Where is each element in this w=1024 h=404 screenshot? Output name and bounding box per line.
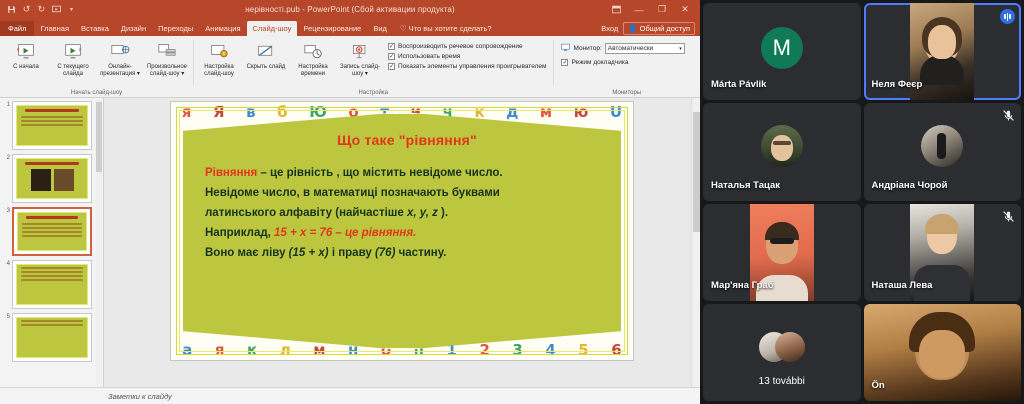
checkbox-play-narrations-label: Воспроизводить речевое сопровождение	[398, 43, 523, 50]
checkbox-presenter-view[interactable]: ✓ Режим докладчика	[561, 59, 628, 66]
screen-root: ↺ ↻ ▾ нерівності.pub - PowerPoint (Сбой …	[0, 0, 1024, 404]
button-record-slideshow[interactable]: Запись слайд- шоу ▾	[337, 38, 383, 78]
monitor-select-value: Автоматически	[608, 45, 653, 52]
video-conference-grid: M Márta Pávlik Неля Феєр Наталья Тацак	[700, 0, 1024, 404]
slide-vertical-scrollbar[interactable]	[691, 98, 700, 387]
more-participants-label: 13 további	[703, 376, 861, 387]
thumbnail-number: 1	[3, 101, 10, 150]
powerpoint-window: ↺ ↻ ▾ нерівності.pub - PowerPoint (Сбой …	[0, 0, 700, 404]
checkbox-play-narrations-box[interactable]: ✓	[388, 43, 395, 50]
participant-name: Наташа Лева	[872, 280, 933, 291]
participant-tile-marta-pavlik[interactable]: M Márta Pávlik	[703, 3, 861, 100]
tab-transitions[interactable]: Переходы	[152, 21, 199, 36]
checkbox-use-timings[interactable]: ✓ Использовать время	[388, 53, 546, 60]
checkbox-use-timings-label: Использовать время	[398, 53, 460, 60]
tab-home[interactable]: Главная	[34, 21, 75, 36]
lightbulb-icon: ♡	[400, 24, 407, 33]
thumbnail-preview[interactable]	[12, 154, 92, 203]
button-present-online-label: Онлайн- презентация ▾	[97, 64, 143, 78]
mic-muted-icon	[1002, 210, 1015, 223]
participant-tile-more[interactable]: 13 további	[703, 304, 861, 401]
checkbox-presenter-view-label: Режим докладчика	[571, 59, 628, 66]
monitor-label: Монитор:	[573, 45, 601, 52]
slide-selection-outline	[177, 108, 627, 354]
participant-name: Наталья Тацак	[711, 180, 780, 191]
button-hide-slide-label: Скрыть слайд	[243, 64, 289, 71]
thumbnail-item[interactable]: 2	[3, 154, 101, 203]
button-from-beginning[interactable]: С начала	[3, 38, 49, 71]
notes-placeholder: Заметки к слайду	[108, 392, 172, 401]
tab-view[interactable]: Вид	[367, 21, 393, 36]
participant-name: Ön	[872, 380, 885, 391]
ribbon-group-start-slideshow: С начала С текущего слайда Онлайн- презе…	[0, 36, 193, 98]
group-label-setup: Настройка	[193, 88, 553, 98]
custom-slideshow-icon	[155, 41, 179, 63]
slideshow-from-current-icon	[61, 41, 85, 63]
tell-me-label: Что вы хотите сделать?	[409, 24, 492, 33]
group-label-start-slideshow: Начать слайд-шоу	[0, 88, 193, 98]
checkbox-play-narrations[interactable]: ✓ Воспроизводить речевое сопровождение	[388, 43, 546, 50]
participant-tile-natasha-leva[interactable]: Наташа Лева	[864, 204, 1022, 301]
participant-name: Неля Феєр	[872, 79, 923, 90]
monitor-icon	[561, 43, 570, 54]
button-custom-slideshow-label: Произвольное слайд-шоу ▾	[144, 64, 190, 78]
ribbon-group-monitors: Монитор: Автоматически ▾ ✓ Режим докладч…	[553, 36, 700, 98]
button-present-online[interactable]: Онлайн- презентация ▾	[97, 38, 143, 78]
ribbon-content: С начала С текущего слайда Онлайн- презе…	[0, 36, 700, 98]
present-online-icon	[108, 41, 132, 63]
checkbox-use-timings-box[interactable]: ✓	[388, 53, 395, 60]
thumbnail-number: 5	[3, 313, 10, 362]
thumbnail-preview[interactable]	[12, 207, 92, 256]
button-setup-slideshow-label: Настройка слайд-шоу	[196, 64, 242, 78]
thumbnail-item[interactable]: 5	[3, 313, 101, 362]
button-rehearse-timings-label: Настройка времени	[290, 64, 336, 78]
tell-me-box[interactable]: ♡ Что вы хотите сделать?	[393, 21, 492, 36]
thumbnail-number: 3	[3, 207, 10, 256]
thumbnail-number: 2	[3, 154, 10, 203]
participant-tile-natalya-tsatsak[interactable]: Наталья Тацак	[703, 103, 861, 200]
button-rehearse-timings[interactable]: Настройка времени	[290, 38, 336, 78]
tab-insert[interactable]: Вставка	[75, 21, 115, 36]
participant-tile-nelya-feyer[interactable]: Неля Феєр	[864, 3, 1022, 100]
participant-tile-maryana-hrab[interactable]: Мар'яна Граб	[703, 204, 861, 301]
notes-pane[interactable]: Заметки к слайду	[0, 387, 700, 404]
group-label-monitors: Мониторы	[553, 88, 700, 98]
button-from-current-slide-label: С текущего слайда	[50, 64, 96, 78]
rehearse-timings-icon	[301, 41, 325, 63]
self-video	[864, 304, 1022, 401]
tabrow-right: Вход 👤 Общий доступ	[601, 21, 700, 36]
tab-file[interactable]: Файл	[0, 21, 34, 36]
ribbon-tabs[interactable]: Файл Главная Вставка Дизайн Переходы Ани…	[0, 19, 700, 36]
thumbnail-preview[interactable]	[12, 313, 92, 362]
checkbox-show-media-controls-box[interactable]: ✓	[388, 63, 395, 70]
participant-avatar-photo	[761, 125, 803, 167]
slide-thumbnail-panel[interactable]: 1 2 3 4	[0, 98, 104, 387]
checkbox-show-media-controls[interactable]: ✓ Показать элементы управления проигрыва…	[388, 63, 546, 70]
checkbox-show-media-controls-label: Показать элементы управления проигрывате…	[398, 63, 546, 70]
setup-checkbox-list: ✓ Воспроизводить речевое сопровождение ✓…	[384, 38, 550, 70]
button-custom-slideshow[interactable]: Произвольное слайд-шоу ▾	[144, 38, 190, 78]
button-record-slideshow-label: Запись слайд- шоу ▾	[337, 64, 383, 78]
more-participants-avatars	[759, 332, 805, 362]
avatar-initial: M	[773, 35, 791, 61]
button-from-beginning-label: С начала	[3, 64, 49, 71]
person-share-icon: 👤	[628, 24, 637, 33]
tab-animations[interactable]: Анимация	[199, 21, 246, 36]
mic-muted-icon	[1002, 109, 1015, 122]
button-from-current-slide[interactable]: С текущего слайда	[50, 38, 96, 78]
window-title: нерівності.pub - PowerPoint (Сбой актива…	[0, 5, 700, 14]
tab-review[interactable]: Рецензирование	[297, 21, 367, 36]
thumbnail-item-selected[interactable]: 3	[3, 207, 101, 256]
avatar: M	[761, 27, 803, 69]
button-setup-slideshow[interactable]: Настройка слайд-шоу	[196, 38, 242, 78]
setup-slideshow-icon	[207, 41, 231, 63]
ribbon-group-setup: Настройка слайд-шоу Скрыть слайд Настрой…	[193, 36, 553, 98]
monitor-row: Монитор: Автоматически ▾	[561, 43, 684, 54]
thumbnail-scrollbar[interactable]	[96, 100, 102, 385]
sign-in-link[interactable]: Вход	[601, 24, 618, 33]
slide-canvas[interactable]: яЯв бЮо тич кдм юU аяк лмн оп1 234 56	[171, 102, 633, 360]
record-slideshow-icon	[348, 41, 372, 63]
participant-tile-andriana-choroy[interactable]: Андріана Чорой	[864, 103, 1022, 200]
work-area: 1 2 3 4	[0, 98, 700, 387]
button-hide-slide[interactable]: Скрыть слайд	[243, 38, 289, 71]
participant-name: Андріана Чорой	[872, 180, 948, 191]
checkbox-presenter-view-box[interactable]: ✓	[561, 59, 568, 66]
title-bar: ↺ ↻ ▾ нерівності.pub - PowerPoint (Сбой …	[0, 0, 700, 19]
slideshow-from-start-icon	[14, 41, 38, 63]
speaking-indicator-icon	[1000, 9, 1015, 24]
share-label: Общий доступ	[640, 24, 690, 33]
slide-editing-stage: яЯв бЮо тич кдм юU аяк лмн оп1 234 56	[104, 98, 700, 387]
thumbnail-number: 4	[3, 260, 10, 309]
participant-name: Мар'яна Граб	[711, 280, 774, 291]
thumbnail-preview[interactable]	[12, 101, 92, 150]
hide-slide-icon	[254, 41, 278, 63]
share-button[interactable]: 👤 Общий доступ	[623, 22, 695, 35]
participant-name: Márta Pávlik	[711, 79, 766, 90]
tab-design[interactable]: Дизайн	[115, 21, 152, 36]
tab-slideshow[interactable]: Слайд-шоу	[247, 21, 298, 36]
thumbnail-item[interactable]: 1	[3, 101, 101, 150]
thumbnail-preview[interactable]	[12, 260, 92, 309]
participant-tile-self[interactable]: Ön	[864, 304, 1022, 401]
chevron-down-icon: ▾	[679, 46, 682, 52]
thumbnail-item[interactable]: 4	[3, 260, 101, 309]
participant-avatar-photo	[921, 125, 963, 167]
monitor-select[interactable]: Автоматически ▾	[605, 43, 685, 54]
